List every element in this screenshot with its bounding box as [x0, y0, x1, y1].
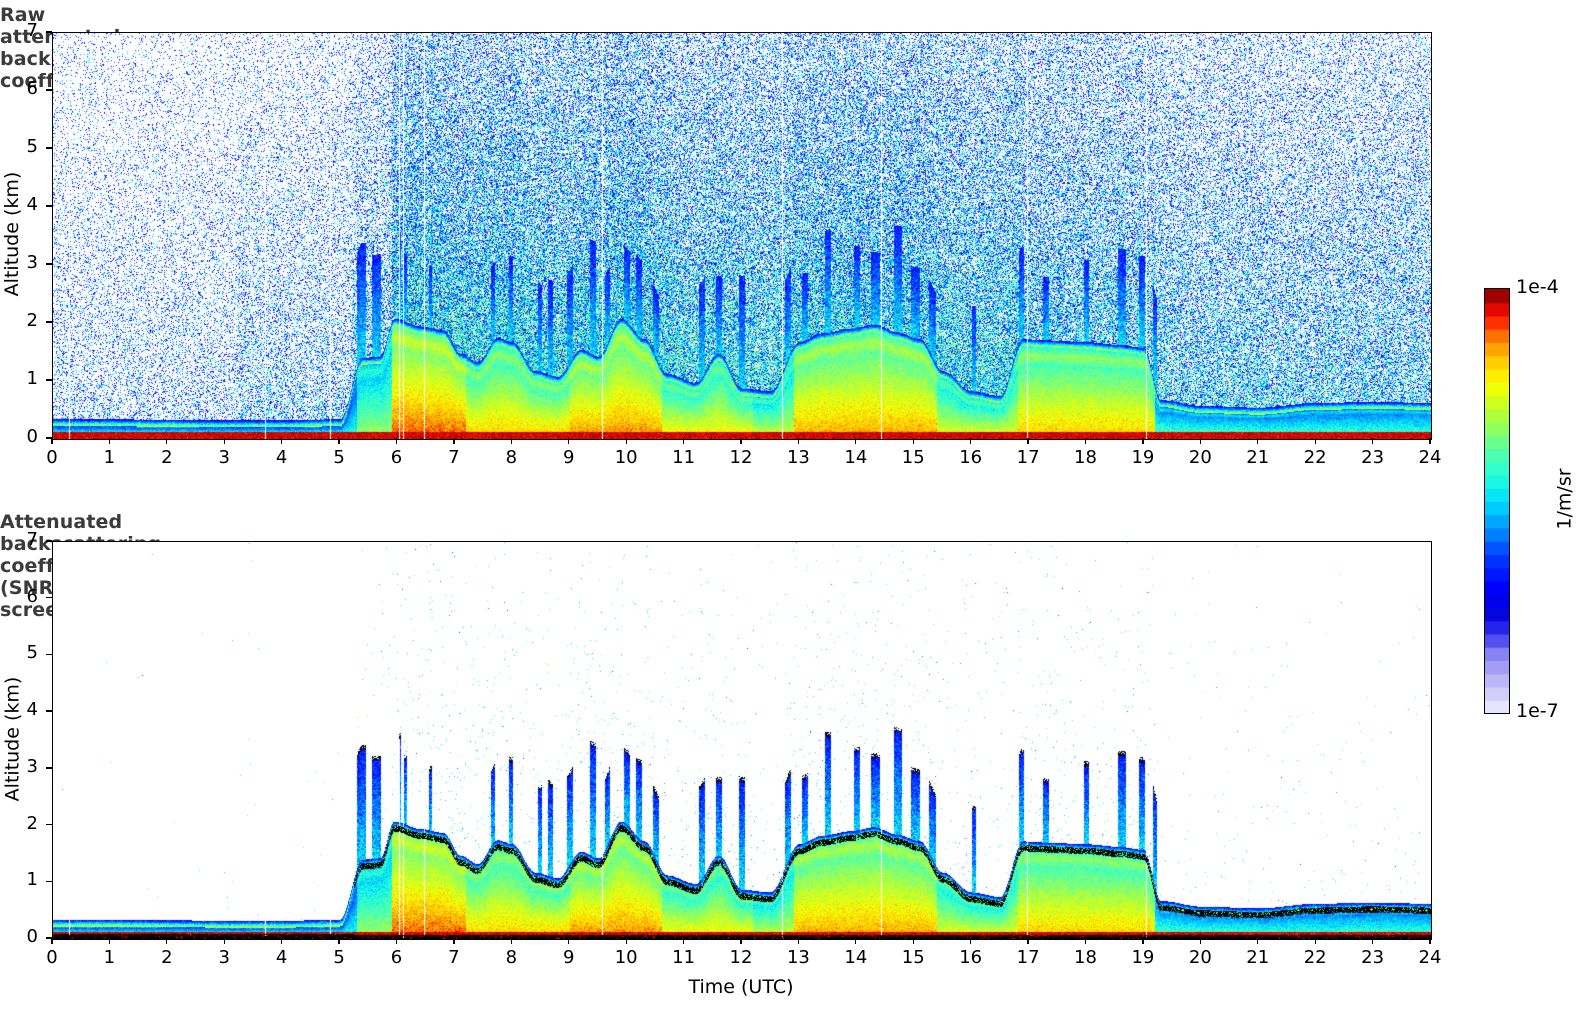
y-tick-label: 2 — [4, 310, 38, 331]
x-tick-label: 0 — [32, 947, 72, 968]
x-tickmark — [1315, 438, 1316, 444]
x-tickmark — [1200, 438, 1201, 444]
x-tick-label: 22 — [1295, 947, 1335, 968]
y-tickmark — [46, 263, 52, 264]
y-tickmark — [46, 824, 52, 825]
x-tick-label: 14 — [836, 947, 876, 968]
y-tickmark — [46, 31, 52, 32]
y-tick-label: 7 — [4, 529, 38, 550]
x-tickmark — [338, 938, 339, 944]
x-tick-label: 24 — [1410, 447, 1450, 468]
x-tickmark — [913, 438, 914, 444]
x-tick-label: 6 — [377, 447, 417, 468]
x-tickmark — [166, 938, 167, 944]
x-tick-label: 7 — [434, 947, 474, 968]
y-tick-label: 2 — [4, 813, 38, 834]
x-tick-label: 8 — [491, 947, 531, 968]
x-tick-label: 4 — [262, 947, 302, 968]
x-tick-label: 19 — [1123, 447, 1163, 468]
x-tickmark — [798, 438, 799, 444]
x-tick-label: 16 — [951, 947, 991, 968]
x-tickmark — [1372, 438, 1373, 444]
x-tick-label: 4 — [262, 447, 302, 468]
x-tickmark — [1200, 938, 1201, 944]
x-tick-label: 21 — [1238, 447, 1278, 468]
y-tickmark — [46, 710, 52, 711]
colorbar-min-label: 1e-7 — [1516, 700, 1559, 722]
x-tick-label: 15 — [893, 447, 933, 468]
y-tickmark — [46, 654, 52, 655]
x-tick-label: 2 — [147, 447, 187, 468]
x-tickmark — [626, 938, 627, 944]
x-tick-label: 23 — [1353, 947, 1393, 968]
x-tickmark — [224, 938, 225, 944]
x-tick-label: 12 — [721, 447, 761, 468]
x-tick-label: 20 — [1180, 947, 1220, 968]
x-tickmark — [453, 438, 454, 444]
y-tickmark — [46, 379, 52, 380]
y-tickmark — [46, 597, 52, 598]
x-tick-label: 19 — [1123, 947, 1163, 968]
x-tickmark — [109, 438, 110, 444]
x-tick-label: 3 — [204, 447, 244, 468]
panel-raw-axes[interactable] — [52, 32, 1432, 440]
x-tick-label: 13 — [778, 947, 818, 968]
y-tickmark — [46, 89, 52, 90]
x-tickmark — [913, 938, 914, 944]
x-tick-label: 3 — [204, 947, 244, 968]
x-tick-label: 11 — [664, 947, 704, 968]
y-tick-label: 4 — [4, 699, 38, 720]
x-tick-label: 21 — [1238, 947, 1278, 968]
x-tick-label: 5 — [319, 447, 359, 468]
x-tickmark — [1257, 438, 1258, 444]
x-tickmark — [1429, 438, 1430, 444]
x-tickmark — [166, 438, 167, 444]
y-tickmark — [46, 767, 52, 768]
x-tick-label: 9 — [549, 947, 589, 968]
x-tickmark — [970, 938, 971, 944]
x-tickmark — [396, 438, 397, 444]
x-tickmark — [1027, 938, 1028, 944]
x-tickmark — [281, 938, 282, 944]
x-tickmark — [109, 938, 110, 944]
x-tickmark — [970, 438, 971, 444]
panel-screened-xlabel: Time (UTC) — [641, 976, 841, 998]
x-tickmark — [798, 938, 799, 944]
panel-raw-heatmap — [53, 33, 1431, 439]
x-tickmark — [568, 938, 569, 944]
x-tick-label: 16 — [951, 447, 991, 468]
x-tickmark — [51, 938, 52, 944]
x-tick-label: 24 — [1410, 947, 1450, 968]
panel-screened-axes[interactable] — [52, 541, 1432, 940]
x-tick-label: 15 — [893, 947, 933, 968]
x-tickmark — [51, 438, 52, 444]
x-tickmark — [740, 938, 741, 944]
x-tick-label: 10 — [606, 447, 646, 468]
x-tick-label: 2 — [147, 947, 187, 968]
x-tickmark — [855, 938, 856, 944]
x-tickmark — [1315, 938, 1316, 944]
y-tickmark — [46, 881, 52, 882]
y-tick-label: 3 — [4, 252, 38, 273]
y-tick-label: 6 — [4, 78, 38, 99]
x-tickmark — [338, 438, 339, 444]
x-tickmark — [740, 438, 741, 444]
x-tick-label: 0 — [32, 447, 72, 468]
x-tickmark — [1372, 938, 1373, 944]
x-tick-label: 7 — [434, 447, 474, 468]
y-tick-label: 0 — [4, 426, 38, 447]
x-tickmark — [1027, 438, 1028, 444]
x-tickmark — [1142, 438, 1143, 444]
y-tick-label: 0 — [4, 926, 38, 947]
x-tick-label: 22 — [1295, 447, 1335, 468]
y-tick-label: 5 — [4, 642, 38, 663]
x-tickmark — [224, 438, 225, 444]
x-tick-label: 10 — [606, 947, 646, 968]
x-tickmark — [683, 438, 684, 444]
x-tickmark — [1085, 438, 1086, 444]
x-tick-label: 6 — [377, 947, 417, 968]
x-tickmark — [855, 438, 856, 444]
y-tickmark — [46, 437, 52, 438]
y-tick-label: 7 — [4, 20, 38, 41]
x-tick-label: 8 — [491, 447, 531, 468]
colorbar-unit-label: 1/m/sr — [1554, 468, 1576, 529]
x-tick-label: 20 — [1180, 447, 1220, 468]
y-tickmark — [46, 937, 52, 938]
x-tickmark — [626, 438, 627, 444]
y-tick-label: 3 — [4, 756, 38, 777]
x-tick-label: 1 — [89, 947, 129, 968]
panel-screened-heatmap — [53, 542, 1431, 939]
x-tickmark — [1142, 938, 1143, 944]
x-tickmark — [1085, 938, 1086, 944]
y-tick-label: 5 — [4, 136, 38, 157]
colorbar-max-label: 1e-4 — [1516, 276, 1559, 298]
x-tickmark — [568, 438, 569, 444]
y-tickmark — [46, 321, 52, 322]
x-tick-label: 9 — [549, 447, 589, 468]
x-tick-label: 5 — [319, 947, 359, 968]
y-tick-label: 6 — [4, 586, 38, 607]
y-tickmark — [46, 147, 52, 148]
x-tick-label: 17 — [1008, 947, 1048, 968]
x-tick-label: 18 — [1066, 447, 1106, 468]
x-tick-label: 12 — [721, 947, 761, 968]
colorbar[interactable] — [1484, 288, 1510, 714]
y-tick-label: 1 — [4, 368, 38, 389]
x-tickmark — [1257, 938, 1258, 944]
x-tickmark — [1429, 938, 1430, 944]
y-tick-label: 1 — [4, 869, 38, 890]
x-tickmark — [683, 938, 684, 944]
x-tickmark — [281, 438, 282, 444]
x-tickmark — [453, 938, 454, 944]
x-tickmark — [511, 938, 512, 944]
x-tickmark — [511, 438, 512, 444]
x-tick-label: 14 — [836, 447, 876, 468]
x-tick-label: 23 — [1353, 447, 1393, 468]
x-tickmark — [396, 938, 397, 944]
x-tick-label: 11 — [664, 447, 704, 468]
x-tick-label: 13 — [778, 447, 818, 468]
colorbar-gradient — [1485, 289, 1509, 713]
y-tickmark — [46, 540, 52, 541]
x-tick-label: 17 — [1008, 447, 1048, 468]
x-tick-label: 1 — [89, 447, 129, 468]
y-tick-label: 4 — [4, 194, 38, 215]
y-tickmark — [46, 205, 52, 206]
x-tick-label: 18 — [1066, 947, 1106, 968]
